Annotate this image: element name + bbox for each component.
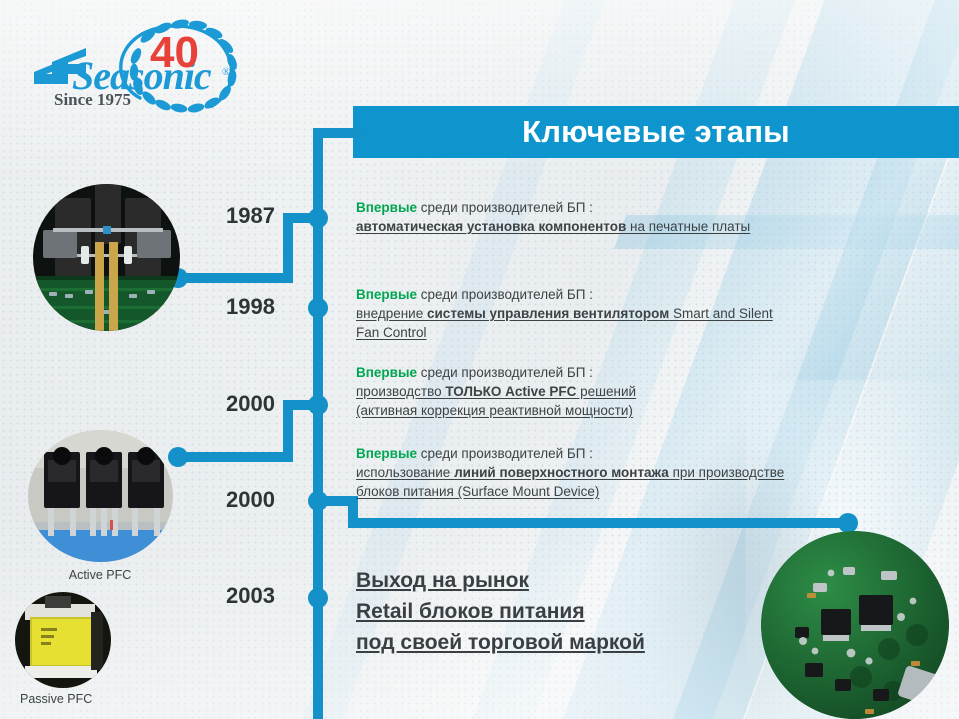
auto-insertion-machine-photo <box>33 184 180 331</box>
year-label-2000-a: 2000 <box>165 391 275 417</box>
milestone-lead-rest: среди производителей БП : <box>417 365 593 380</box>
final-milestone-text: Выход на рынокRetail блоков питанияпод с… <box>356 565 776 658</box>
year-label-1998: 1998 <box>165 294 275 320</box>
milestone-text-run: блоков питания (Surface Mount Device) <box>356 484 599 499</box>
final-milestone-line: Выход на рынок <box>356 565 776 596</box>
milestone-lead-line: Впервые среди производителей БП : <box>356 444 784 463</box>
milestone-text-run: на печатные платы <box>626 219 750 234</box>
milestone-text-run: автоматическая установка компонентов <box>356 219 626 234</box>
slide-title-banner: Ключевые этапы <box>353 106 959 158</box>
timeline-dot-2000-b <box>308 491 328 511</box>
milestone-text-run: линий поверхностного монтажа <box>454 465 669 480</box>
slide-canvas: Seasonic ® 40 Since 1975 Ключевые этапы … <box>0 0 959 719</box>
milestone-text-run: Fan Control <box>356 325 427 340</box>
milestone-detail-line: блоков питания (Surface Mount Device) <box>356 482 784 501</box>
final-milestone-text: Выход на рынок <box>356 565 529 596</box>
timeline-dot-2000-a <box>308 395 328 415</box>
active-pfc-photo <box>28 430 173 562</box>
milestone-text-run: Smart and Silent <box>669 306 773 321</box>
milestone-lead-rest: среди производителей БП : <box>417 287 593 302</box>
year-label-1987: 1987 <box>165 203 275 229</box>
milestone-first-word: Впервые <box>356 446 417 461</box>
active-pfc-caption: Active PFC <box>30 568 170 582</box>
logo-since-text: Since 1975 <box>54 90 131 110</box>
final-milestone-line: под своей торговой маркой <box>356 627 776 658</box>
final-milestone-text: под своей торговой маркой <box>356 627 645 658</box>
seasonic-logo: Seasonic ® 40 Since 1975 <box>22 14 272 118</box>
timeline-dot-2003 <box>308 588 328 608</box>
milestone-detail-line: (активная коррекция реактивной мощности) <box>356 401 636 420</box>
milestone-lead-line: Впервые среди производителей БП : <box>356 363 636 382</box>
milestone-first-word: Впервые <box>356 200 417 215</box>
timeline-top-connector-horizontal <box>313 128 361 138</box>
milestone-text-1998: Впервые среди производителей БП :внедрен… <box>356 285 773 342</box>
smd-pcb-image <box>761 531 949 719</box>
milestone-detail-line: использование линий поверхностного монта… <box>356 463 784 482</box>
passive-pfc-photo <box>15 592 111 688</box>
timeline-dot-1987 <box>308 208 328 228</box>
timeline-branch-3-horizontal-bottom <box>348 518 850 528</box>
milestone-text-1987: Впервые среди производителей БП :автомат… <box>356 198 750 236</box>
passive-pfc-caption: Passive PFC <box>8 692 130 706</box>
milestone-text-2000-b: Впервые среди производителей БП :использ… <box>356 444 784 501</box>
timeline-dot-1998 <box>308 298 328 318</box>
milestone-detail-line: внедрение системы управления вентиляторо… <box>356 304 773 323</box>
milestone-text-run: внедрение <box>356 306 427 321</box>
smd-pcb-photo <box>761 531 949 719</box>
active-pfc-image <box>28 430 173 562</box>
milestone-text-run: при производстве <box>669 465 785 480</box>
timeline-branch-2-horizontal-bottom <box>175 452 291 462</box>
milestone-first-word: Впервые <box>356 365 417 380</box>
year-label-2000-b: 2000 <box>165 487 275 513</box>
milestone-text-run: ТОЛЬКО Active PFC <box>445 384 576 399</box>
year-label-2003: 2003 <box>165 583 275 609</box>
milestone-detail-line: Fan Control <box>356 323 773 342</box>
timeline-dot-photo-pcb <box>838 513 858 533</box>
page-title: Ключевые этапы <box>522 114 790 150</box>
milestone-text-run: решений <box>576 384 636 399</box>
milestone-lead-line: Впервые среди производителей БП : <box>356 285 773 304</box>
milestone-lead-line: Впервые среди производителей БП : <box>356 198 750 217</box>
final-milestone-line: Retail блоков питания <box>356 596 776 627</box>
final-milestone-text: Retail блоков питания <box>356 596 585 627</box>
milestone-first-word: Впервые <box>356 287 417 302</box>
milestone-text-run: системы управления вентилятором <box>427 306 669 321</box>
milestone-text-run: (активная коррекция реактивной мощности) <box>356 403 633 418</box>
milestone-detail-line: автоматическая установка компонентов на … <box>356 217 750 236</box>
milestone-text-run: производство <box>356 384 445 399</box>
milestone-text-2000-a: Впервые среди производителей БП :произво… <box>356 363 636 420</box>
milestone-text-run: использование <box>356 465 454 480</box>
logo-anniversary-40: 40 <box>150 28 199 78</box>
timeline-branch-1-horizontal-bottom <box>175 273 291 283</box>
milestone-detail-line: производство ТОЛЬКО Active PFC решений <box>356 382 636 401</box>
auto-insertion-machine-image <box>33 184 180 331</box>
logo-registered-mark: ® <box>222 66 230 78</box>
milestone-lead-rest: среди производителей БП : <box>417 200 593 215</box>
timeline-dot-photo-2 <box>168 447 188 467</box>
passive-pfc-image <box>15 592 111 688</box>
milestone-lead-rest: среди производителей БП : <box>417 446 593 461</box>
